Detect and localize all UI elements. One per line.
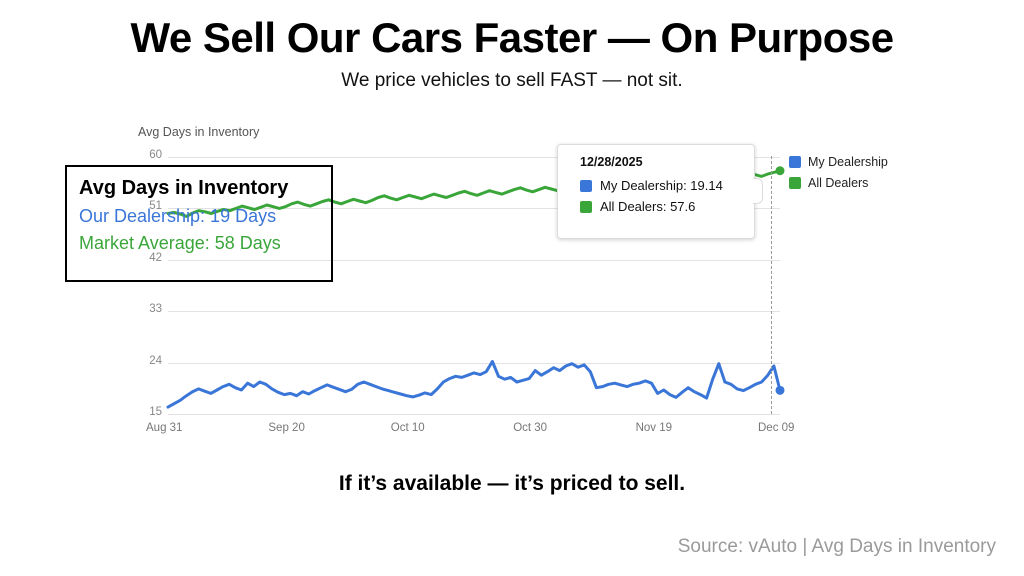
tooltip-swatch-my-dealership xyxy=(580,180,592,192)
crosshair-line xyxy=(771,156,772,414)
tooltip-row-all-dealers: All Dealers: 57.6 xyxy=(580,196,754,217)
chart-legend[interactable]: My DealershipAll Dealers xyxy=(789,152,888,194)
page-subtitle: We price vehicles to sell FAST — not sit… xyxy=(0,70,1024,92)
legend-swatch-icon xyxy=(789,177,801,189)
page-title: We Sell Our Cars Faster — On Purpose xyxy=(0,14,1024,62)
tooltip-swatch-all-dealers xyxy=(580,201,592,213)
endpoint-dot-all-dealers xyxy=(776,166,785,175)
legend-item-all-dealers[interactable]: All Dealers xyxy=(789,173,888,193)
closing-statement: If it’s available — it’s priced to sell. xyxy=(0,472,1024,496)
callout-box: Avg Days in Inventory Our Dealership: 19… xyxy=(65,165,333,282)
series-line-my-dealership xyxy=(168,362,780,408)
tooltip-label-my-dealership: My Dealership: 19.14 xyxy=(600,178,723,193)
legend-label: All Dealers xyxy=(808,176,868,190)
tooltip-label-all-dealers: All Dealers: 57.6 xyxy=(600,199,695,214)
tooltip-date: 12/28/2025 xyxy=(580,155,754,169)
legend-swatch-icon xyxy=(789,156,801,168)
legend-label: My Dealership xyxy=(808,155,888,169)
legend-item-my-dealership[interactable]: My Dealership xyxy=(789,152,888,172)
chart-tooltip: 12/28/2025 My Dealership: 19.14 All Deal… xyxy=(557,144,755,239)
endpoint-dot-my-dealership xyxy=(776,386,785,395)
callout-title: Avg Days in Inventory xyxy=(79,176,331,201)
source-attribution: Source: vAuto | Avg Days in Inventory xyxy=(678,536,996,558)
callout-market-average: Market Average: 58 Days xyxy=(79,230,331,257)
tooltip-row-my-dealership: My Dealership: 19.14 xyxy=(580,175,754,196)
tooltip-pointer-icon xyxy=(753,178,763,204)
callout-our-dealership: Our Dealership: 19 Days xyxy=(79,203,331,230)
slide-root: We Sell Our Cars Faster — On Purpose We … xyxy=(0,0,1024,576)
